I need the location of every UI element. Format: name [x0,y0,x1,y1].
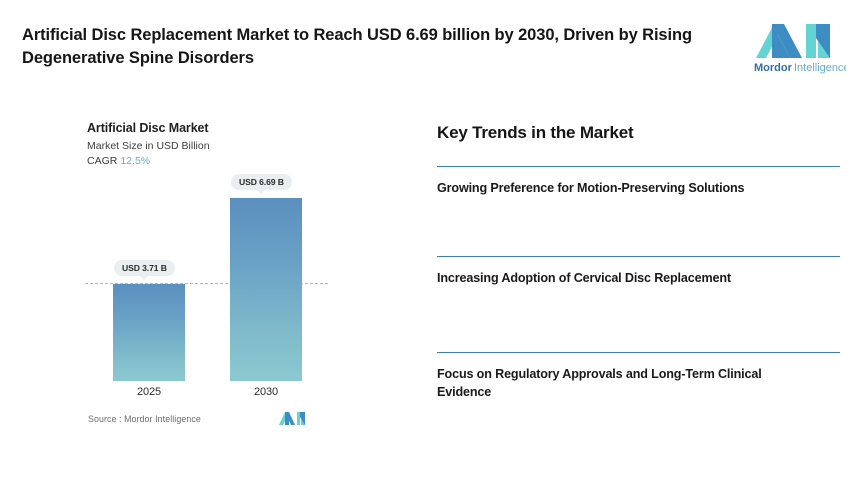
bar-value-badge-2030: USD 6.69 B [231,174,292,190]
bar-chart-plot: USD 3.71 B 2025 USD 6.69 B 2030 [0,100,420,491]
chart-panel: Artificial Disc Market Market Size in US… [0,100,420,491]
trend-text-3: Focus on Regulatory Approvals and Long-T… [437,366,817,402]
page-header: Artificial Disc Replacement Market to Re… [0,0,860,100]
bar-2025[interactable] [113,284,185,381]
chart-source: Source : Mordor Intelligence [88,414,201,424]
bar-2030[interactable] [230,198,302,381]
x-axis-label-2030: 2030 [230,386,302,398]
trend-divider-2 [437,256,840,257]
trend-divider-1 [437,166,840,167]
mordor-logo-mark: Mordor Intelligence [750,14,846,76]
x-axis-label-2025: 2025 [113,386,185,398]
source-label: Source : [88,414,122,424]
key-trends-heading: Key Trends in the Market [437,123,633,143]
trend-text-2: Increasing Adoption of Cervical Disc Rep… [437,270,817,288]
mordor-small-logo-mark [278,410,308,427]
source-value: Mordor Intelligence [124,414,201,424]
mordor-intelligence-logo: Mordor Intelligence [750,14,846,76]
trend-divider-3 [437,352,840,353]
svg-text:Mordor: Mordor [754,62,793,74]
mordor-intelligence-small-logo [278,410,308,427]
page-title: Artificial Disc Replacement Market to Re… [22,24,722,71]
trend-item-3[interactable]: Focus on Regulatory Approvals and Long-T… [437,352,840,402]
key-trends-panel: Key Trends in the Market Growing Prefere… [437,100,842,491]
trend-item-2[interactable]: Increasing Adoption of Cervical Disc Rep… [437,256,840,288]
bar-value-badge-2025: USD 3.71 B [114,260,175,276]
svg-text:Intelligence: Intelligence [794,62,846,74]
trend-text-1: Growing Preference for Motion-Preserving… [437,180,817,198]
trend-item-1[interactable]: Growing Preference for Motion-Preserving… [437,166,840,198]
